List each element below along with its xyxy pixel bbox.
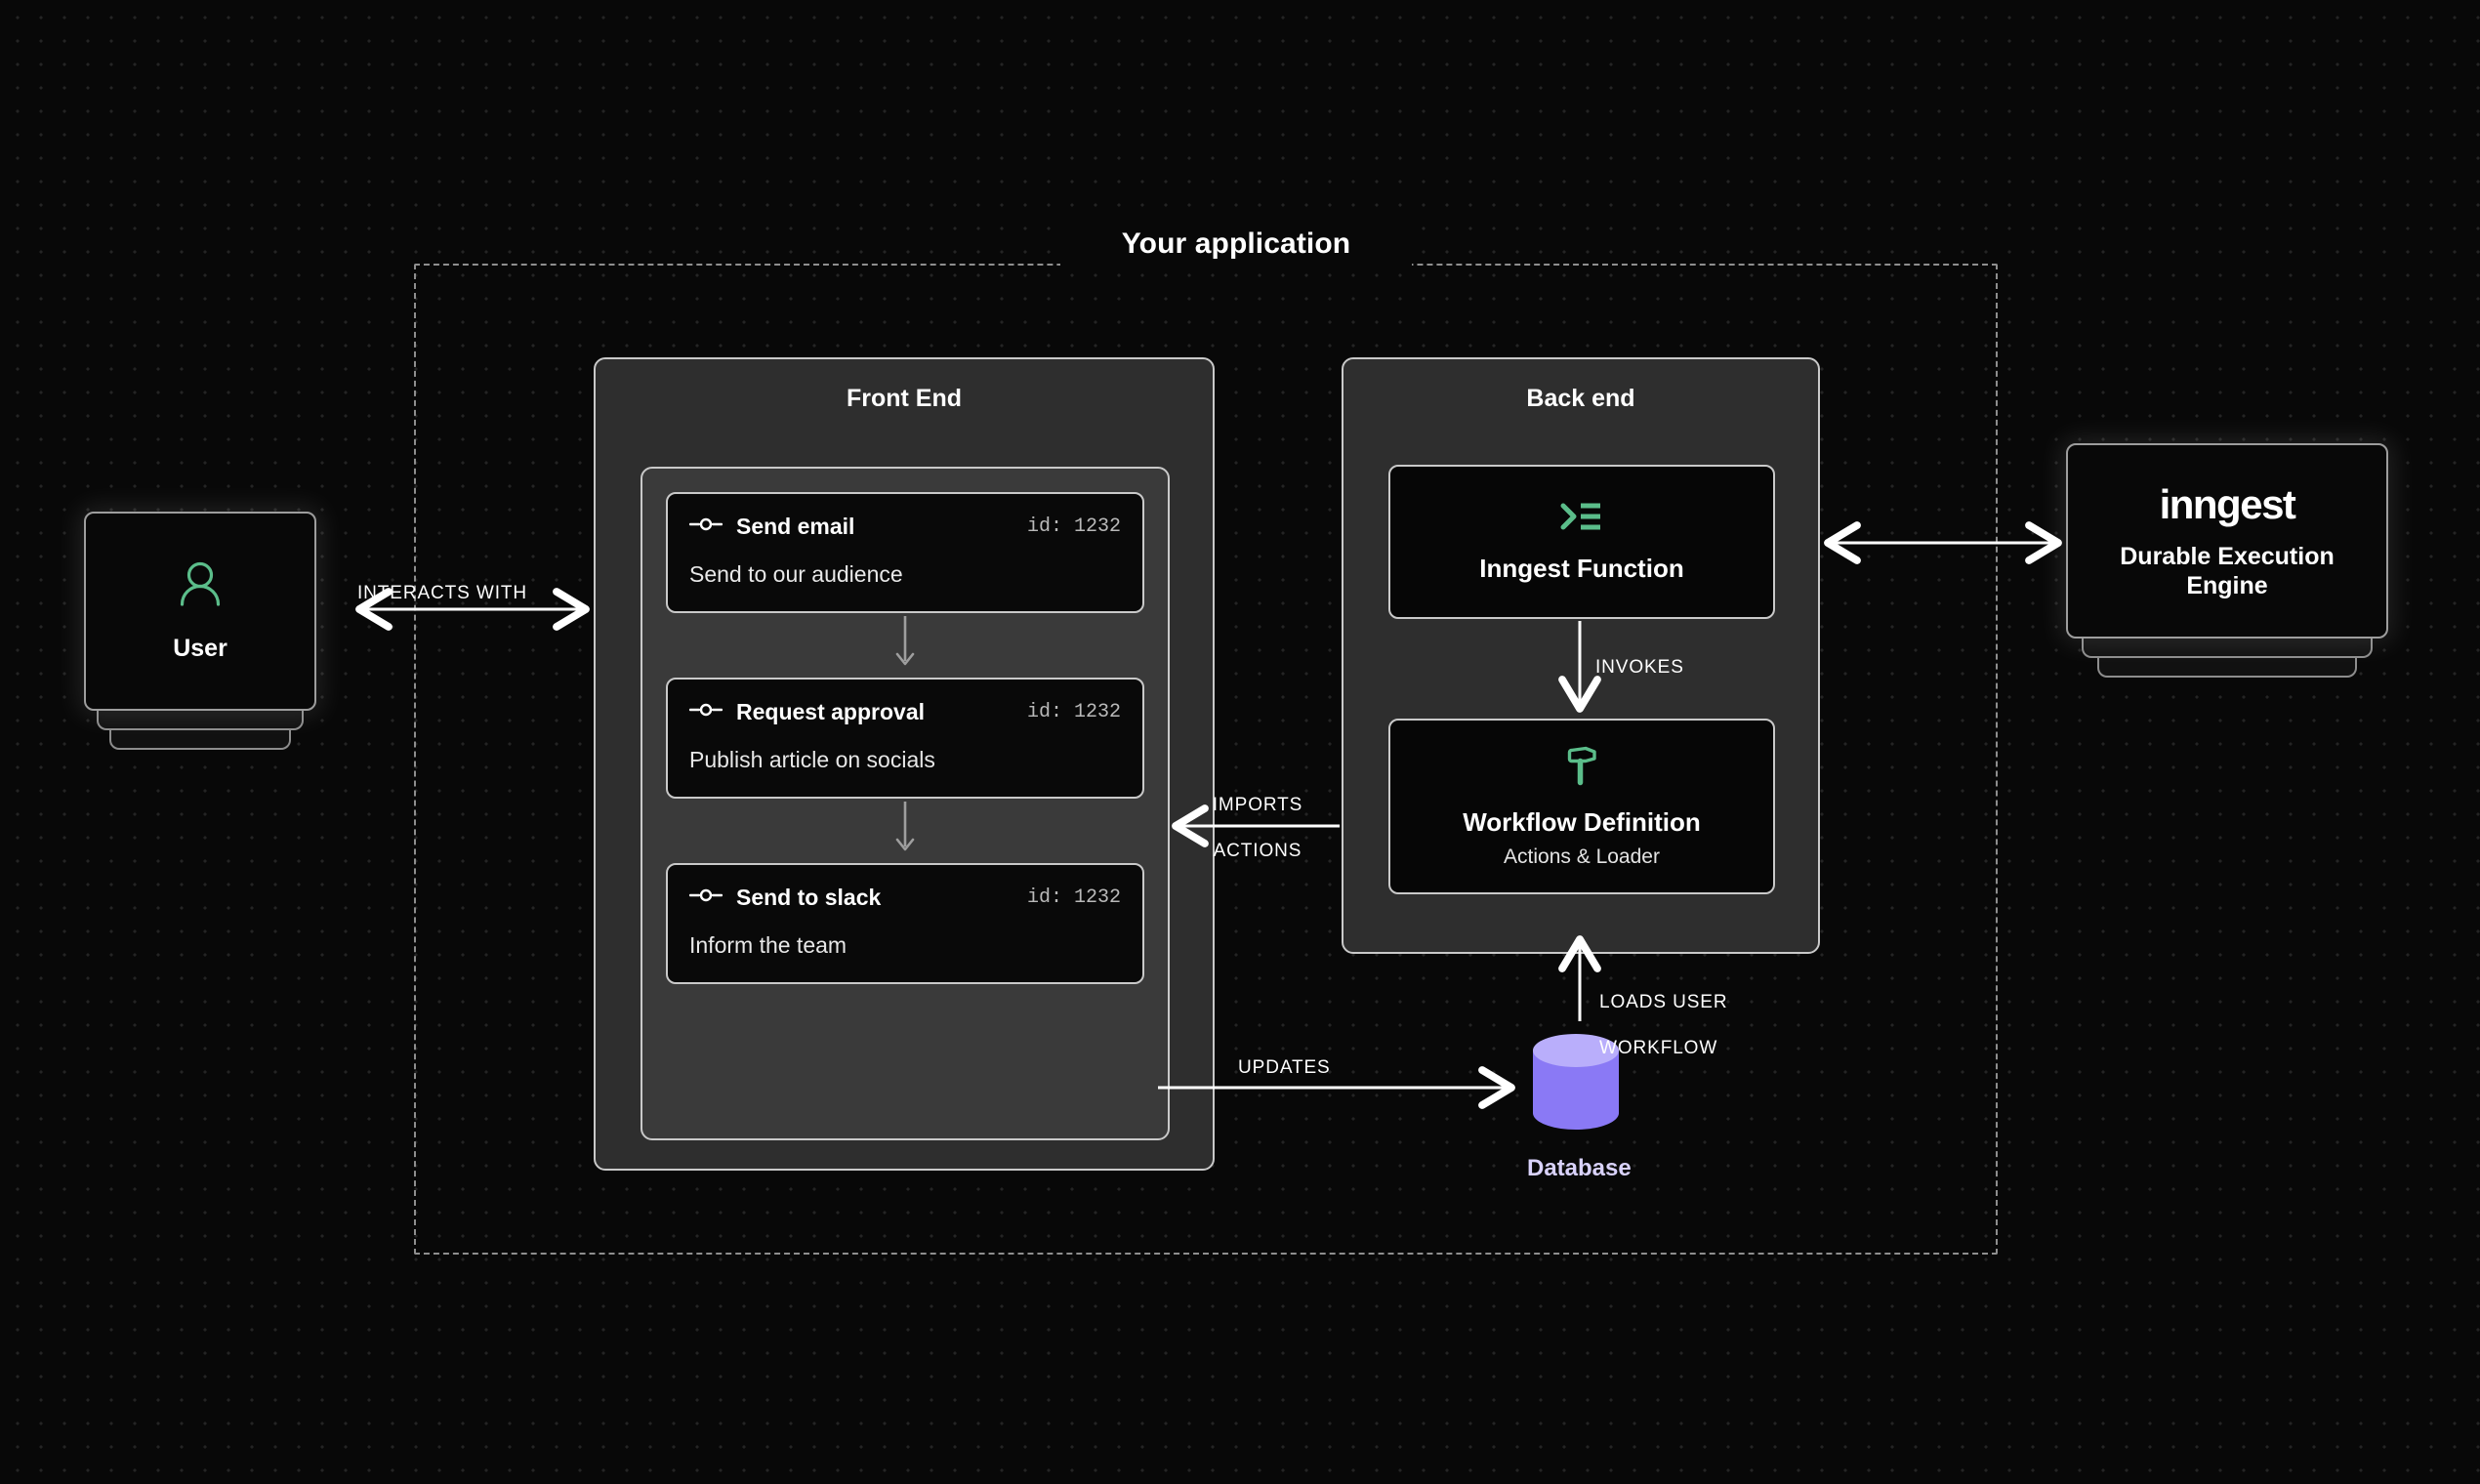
workflow-step-description: Publish article on socials [689, 747, 1121, 773]
workflow-connector-arrow [666, 799, 1144, 863]
stack-layer-back [109, 728, 291, 750]
workflow-step-card[interactable]: Send to slack id: 1232 Inform the team [666, 863, 1144, 984]
workflow-connector-arrow [666, 613, 1144, 678]
frontend-title: Front End [596, 385, 1213, 413]
workflow-step-id: id: 1232 [1027, 515, 1121, 538]
edge-label-line2: WORKFLOW [1599, 1038, 1717, 1058]
edge-label-line1: LOADS USER [1599, 992, 1727, 1012]
inngest-subtitle-line1: Durable Execution [2120, 543, 2335, 570]
inngest-subtitle: Durable Execution Engine [2120, 542, 2335, 601]
workflow-definition-box[interactable]: Workflow Definition Actions & Loader [1388, 719, 1775, 894]
workflow-editor-container: Send email id: 1232 Send to our audience [641, 467, 1170, 1140]
workflow-definition-title: Workflow Definition [1463, 807, 1701, 838]
inngest-subtitle-line2: Engine [2186, 572, 2267, 599]
user-node: User [84, 512, 316, 711]
inngest-node: inngest Durable Execution Engine [2066, 443, 2388, 639]
user-card: User [84, 512, 316, 711]
workflow-node-icon [689, 516, 723, 537]
edge-label-line1: IMPORTS [1213, 795, 1303, 815]
workflow-step-title: Send to slack [736, 885, 881, 911]
user-label: User [173, 635, 227, 663]
workflow-node-icon [689, 887, 723, 908]
stack-layer-front [2082, 637, 2373, 658]
workflow-step-description: Send to our audience [689, 561, 1121, 588]
workflow-step-description: Inform the team [689, 932, 1121, 959]
inngest-card: inngest Durable Execution Engine [2066, 443, 2388, 639]
edge-label-line2: ACTIONS [1214, 841, 1302, 861]
edge-label-imports-actions: IMPORTS ACTIONS [1179, 771, 1336, 862]
workflow-step-title: Send email [736, 514, 854, 540]
workflow-step-title: Request approval [736, 699, 925, 725]
workflow-step-id: id: 1232 [1027, 886, 1121, 909]
workflow-step-card[interactable]: Send email id: 1232 Send to our audience [666, 492, 1144, 613]
user-icon [177, 559, 224, 617]
workflow-node-icon [689, 702, 723, 722]
edge-label-updates: UPDATES [1238, 1056, 1394, 1079]
diagram-canvas: Your application User Front End [0, 0, 2480, 1484]
database-cylinder-icon [1527, 1124, 1625, 1140]
hammer-icon [1561, 744, 1602, 792]
application-title: Your application [1060, 223, 1412, 266]
terminal-icon [1559, 500, 1604, 538]
database-label: Database [1527, 1155, 1632, 1182]
inngest-wordmark: inngest [2160, 481, 2295, 528]
edge-label-interacts-with: INTERACTS WITH [320, 582, 564, 604]
workflow-definition-subtitle: Actions & Loader [1504, 845, 1660, 869]
edge-label-invokes: INVOKES [1595, 656, 1752, 679]
stack-layer-back [2097, 656, 2357, 678]
inngest-function-title: Inngest Function [1479, 554, 1683, 584]
edge-label-loads-user-workflow: LOADS USER WORKFLOW [1599, 969, 1785, 1059]
workflow-step-card[interactable]: Request approval id: 1232 Publish articl… [666, 678, 1144, 799]
stack-layer-front [97, 709, 304, 730]
workflow-step-id: id: 1232 [1027, 701, 1121, 723]
frontend-panel: Front End Send email id: 1232 Send to ou… [594, 357, 1215, 1171]
inngest-function-box[interactable]: Inngest Function [1388, 465, 1775, 619]
backend-title: Back end [1343, 385, 1818, 413]
